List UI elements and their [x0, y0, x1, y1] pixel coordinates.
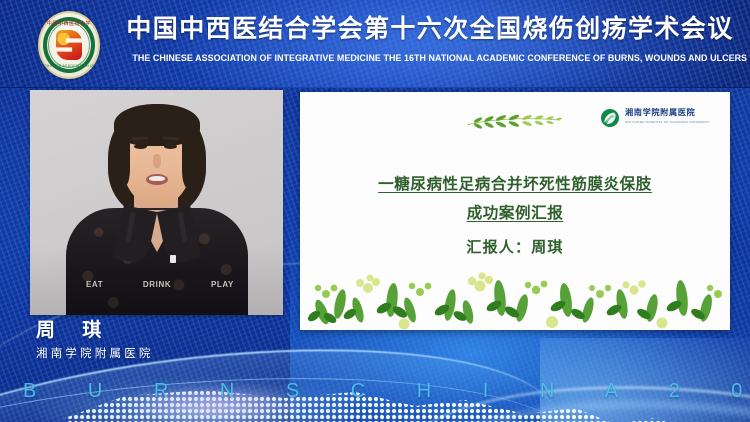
- olive-branch-ornament-icon: [460, 110, 570, 134]
- shirt-word-eat: EAT: [86, 280, 103, 289]
- emblem-bottom-text: CHINESE ASSOCIATION OF INTEGRATIVE MEDIC…: [44, 61, 94, 71]
- slide-title-block: 一糖尿病性足病合并坏死性筋膜炎保肢 成功案例汇报: [320, 170, 710, 228]
- speaker-badge: [170, 255, 176, 263]
- event-wordmark: B U R N S C H I N A 2 0 2 0: [0, 378, 750, 404]
- shirt-slogan: EAT DRINK PLAY: [86, 280, 234, 289]
- speaker-nose: [153, 154, 161, 168]
- speaker-name: 周 琪: [36, 318, 266, 344]
- shirt-word-drink: DRINK: [143, 280, 171, 289]
- shirt-word-play: PLAY: [211, 280, 234, 289]
- presentation-slide[interactable]: 湘南学院附属医院 AFFILIATED HOSPITAL OF XIANGNAN…: [300, 92, 730, 330]
- speaker-hair-left: [112, 124, 130, 186]
- broadcast-screen: 中国中西医结合学会 CHINESE ASSOCIATION OF INTEGRA…: [0, 0, 750, 422]
- conference-title-chinese: 中国中西医结合学会第十六次全国烧伤创疡学术会议: [120, 14, 740, 44]
- slide-title-line-2: 成功案例汇报: [320, 199, 710, 228]
- conference-title-english: THE CHINESE ASSOCIATION OF INTEGRATIVE M…: [132, 52, 727, 64]
- speaker-eye-right: [164, 144, 177, 149]
- hospital-name-cn: 湘南学院附属医院: [625, 107, 715, 118]
- hospital-leaf-icon: [600, 108, 620, 128]
- hospital-logo: 湘南学院附属医院 AFFILIATED HOSPITAL OF XIANGNAN…: [600, 106, 715, 130]
- emblem-s-mark-icon: [56, 30, 82, 60]
- header-title-group: 中国中西医结合学会第十六次全国烧伤创疡学术会议 THE CHINESE ASSO…: [120, 14, 740, 64]
- speaker-eye-left: [134, 144, 147, 149]
- speaker-teeth: [149, 176, 165, 181]
- slide-title-line-1: 一糖尿病性足病合并坏死性筋膜炎保肢: [320, 170, 710, 199]
- lower-third-nameplate: 周 琪 湘南学院附属医院: [36, 318, 266, 362]
- emblem-top-text: 中国中西医结合学会: [47, 20, 91, 29]
- speaker-organization: 湘南学院附属医院: [36, 346, 266, 362]
- hospital-name-en: AFFILIATED HOSPITAL OF XIANGNAN UNIVERSI…: [625, 119, 717, 125]
- association-emblem-icon: 中国中西医结合学会 CHINESE ASSOCIATION OF INTEGRA…: [38, 11, 100, 79]
- conference-header-banner: 中国中西医结合学会 CHINESE ASSOCIATION OF INTEGRA…: [0, 0, 750, 90]
- speaker-video-panel[interactable]: EAT DRINK PLAY: [30, 90, 283, 315]
- slide-foliage-decoration: [300, 250, 730, 330]
- slide-canvas: 湘南学院附属医院 AFFILIATED HOSPITAL OF XIANGNAN…: [300, 92, 730, 330]
